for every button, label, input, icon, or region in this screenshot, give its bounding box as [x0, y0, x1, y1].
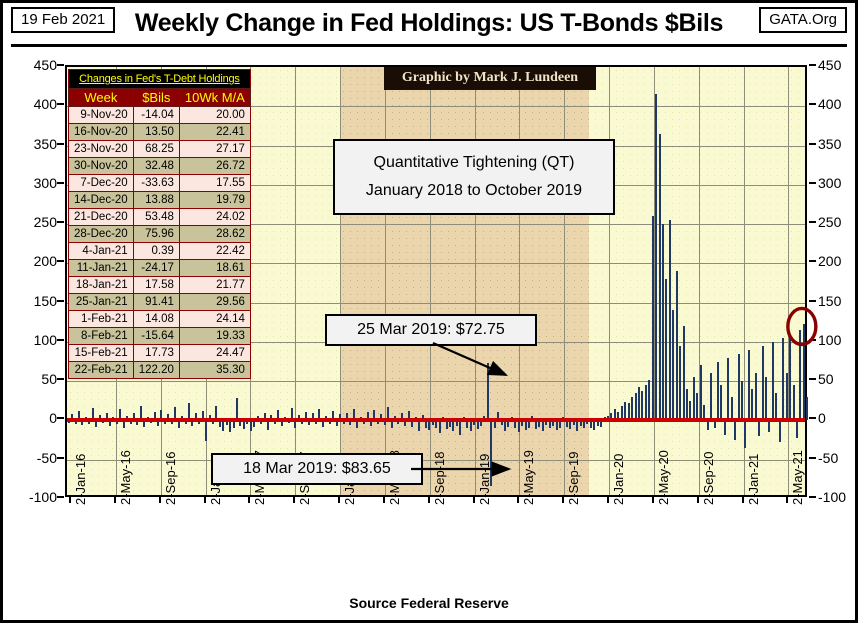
bar: [635, 393, 637, 420]
table-cell: 24.14: [179, 311, 250, 328]
table-cell: 53.48: [133, 209, 179, 226]
table-row: 7-Dec-20-33.6317.55: [69, 175, 251, 192]
qt-annotation: Quantitative Tightening (QT) January 201…: [333, 139, 615, 215]
page-title: Weekly Change in Fed Holdings: US T-Bond…: [3, 9, 855, 38]
bar: [696, 393, 698, 420]
y-tick-label: 50: [11, 372, 57, 386]
table-row: 4-Jan-210.3922.42: [69, 243, 251, 260]
bar: [803, 324, 805, 420]
y-tick-label: 250: [818, 215, 858, 229]
bar: [727, 358, 729, 421]
bar: [655, 94, 657, 420]
callout-peak-up: 25 Mar 2019: $72.75: [325, 314, 537, 346]
table-body: 9-Nov-20-14.0420.0016-Nov-2013.5022.4123…: [69, 107, 251, 379]
y-tick-label: 100: [818, 333, 858, 347]
table-row: 30-Nov-2032.4826.72: [69, 158, 251, 175]
y-tick-mark: [809, 182, 816, 184]
table-cell: 29.56: [179, 294, 250, 311]
y-tick-label: -50: [11, 451, 57, 465]
table-cell: -15.64: [133, 328, 179, 345]
bar: [717, 362, 719, 421]
chart-page: 19 Feb 2021 Weekly Change in Fed Holding…: [0, 0, 858, 623]
table-cell: 27.17: [179, 141, 250, 158]
x-tick-mark: [562, 497, 564, 503]
date-badge: 19 Feb 2021: [11, 7, 115, 33]
bar: [751, 389, 753, 420]
y-tick-mark: [809, 496, 816, 498]
bar: [772, 342, 774, 421]
y-tick-label: -50: [818, 451, 858, 465]
table-cell: 32.48: [133, 158, 179, 175]
bar: [720, 385, 722, 420]
bar: [638, 387, 640, 420]
table-cell: 26.72: [179, 158, 250, 175]
x-tick-mark: [697, 497, 699, 503]
table-cell: -14.04: [133, 107, 179, 124]
y-tick-label: 400: [11, 97, 57, 111]
y-tick-mark: [809, 457, 816, 459]
bar: [686, 389, 688, 420]
table-row: 22-Feb-21122.2035.30: [69, 362, 251, 379]
y-tick-label: 150: [818, 294, 858, 308]
bar: [744, 420, 746, 447]
y-tick-label: 150: [11, 294, 57, 308]
y-tick-mark: [57, 64, 64, 66]
table-row: 9-Nov-20-14.0420.00: [69, 107, 251, 124]
table-cell: 91.41: [133, 294, 179, 311]
bar: [806, 397, 808, 421]
table-cell: 15-Feb-21: [69, 345, 134, 362]
table-cell: -24.17: [133, 260, 179, 277]
bar: [672, 310, 674, 420]
source-label: Source Federal Reserve: [3, 595, 855, 611]
table-row: 11-Jan-21-24.1718.61: [69, 260, 251, 277]
y-tick-label: -100: [818, 490, 858, 504]
table-cell: 21.77: [179, 277, 250, 294]
x-tick-mark: [786, 497, 788, 503]
table-cell: 1-Feb-21: [69, 311, 134, 328]
bar: [741, 381, 743, 420]
y-tick-mark: [809, 417, 816, 419]
table-cell: 17.73: [133, 345, 179, 362]
table-row: 28-Dec-2075.9628.62: [69, 226, 251, 243]
bar: [679, 346, 681, 421]
table-cell: 68.25: [133, 141, 179, 158]
table-cell: 13.50: [133, 124, 179, 141]
bar: [205, 420, 207, 440]
bar: [779, 420, 781, 442]
bar: [236, 398, 238, 420]
x-tick-mark: [159, 497, 161, 503]
bar: [731, 397, 733, 421]
table-cell: 21-Dec-20: [69, 209, 134, 226]
title-divider: [11, 44, 847, 47]
table-cell: 0.39: [133, 243, 179, 260]
qt-annotation-line1: Quantitative Tightening (QT): [341, 149, 607, 177]
bar: [755, 373, 757, 420]
y-tick-mark: [57, 496, 64, 498]
table-caption: Changes in Fed's T-Debt Holdings: [69, 70, 251, 89]
bar: [734, 420, 736, 440]
table-cell: 7-Dec-20: [69, 175, 134, 192]
x-tick-mark: [517, 497, 519, 503]
y-tick-label: 300: [818, 176, 858, 190]
table-cell: 14-Dec-20: [69, 192, 134, 209]
table-cell: 22-Feb-21: [69, 362, 134, 379]
x-tick-mark: [607, 497, 609, 503]
bar: [793, 385, 795, 420]
y-tick-mark: [809, 64, 816, 66]
table-cell: 18-Jan-21: [69, 277, 134, 294]
y-tick-label: 350: [11, 137, 57, 151]
bar: [765, 377, 767, 420]
x-tick-mark: [652, 497, 654, 503]
y-tick-mark: [809, 378, 816, 380]
bar: [659, 134, 661, 421]
y-tick-mark: [57, 339, 64, 341]
table-cell: -33.63: [133, 175, 179, 192]
table-row: 8-Feb-21-15.6419.33: [69, 328, 251, 345]
table-col-0: Week: [69, 89, 134, 107]
table-header-row: Week$Bils10Wk M/A: [69, 89, 251, 107]
brand-badge: GATA.Org: [759, 7, 847, 33]
table-cell: 28.62: [179, 226, 250, 243]
table-cell: 19.33: [179, 328, 250, 345]
y-tick-label: 250: [11, 215, 57, 229]
graphic-credit: Graphic by Mark J. Lundeen: [384, 67, 596, 90]
table-row: 25-Jan-2191.4129.56: [69, 294, 251, 311]
bar: [676, 271, 678, 420]
y-tick-label: 200: [818, 254, 858, 268]
bar: [662, 224, 664, 420]
y-tick-mark: [809, 260, 816, 262]
table-cell: 75.96: [133, 226, 179, 243]
bar: [748, 350, 750, 421]
bar: [782, 338, 784, 420]
table-cell: 23-Nov-20: [69, 141, 134, 158]
table-cell: 8-Feb-21: [69, 328, 134, 345]
bar: [648, 380, 650, 421]
bar: [700, 365, 702, 420]
table-cell: 122.20: [133, 362, 179, 379]
table-cell: 14.08: [133, 311, 179, 328]
table-cell: 24.47: [179, 345, 250, 362]
y-tick-label: 50: [818, 372, 858, 386]
table-cell: 11-Jan-21: [69, 260, 134, 277]
bar: [758, 420, 760, 436]
x-tick-mark: [428, 497, 430, 503]
x-tick-mark: [248, 497, 250, 503]
bar: [710, 373, 712, 420]
y-tick-mark: [809, 221, 816, 223]
table-col-2: 10Wk M/A: [179, 89, 250, 107]
x-tick-mark: [114, 497, 116, 503]
y-tick-mark: [57, 221, 64, 223]
table-cell: 17.55: [179, 175, 250, 192]
bar: [631, 397, 633, 421]
y-tick-mark: [809, 143, 816, 145]
table-row: 18-Jan-2117.5821.77: [69, 277, 251, 294]
y-tick-mark: [57, 300, 64, 302]
y-tick-mark: [809, 103, 816, 105]
y-tick-label: 400: [818, 97, 858, 111]
table-cell: 30-Nov-20: [69, 158, 134, 175]
table-cell: 24.02: [179, 209, 250, 226]
x-tick-mark: [204, 497, 206, 503]
bar: [762, 346, 764, 421]
table-row: 23-Nov-2068.2527.17: [69, 141, 251, 158]
table-cell: 22.41: [179, 124, 250, 141]
bar: [786, 373, 788, 420]
table-cell: 16-Nov-20: [69, 124, 134, 141]
bar: [665, 279, 667, 420]
table-row: 16-Nov-2013.5022.41: [69, 124, 251, 141]
y-tick-mark: [809, 339, 816, 341]
table-row: 14-Dec-2013.8819.79: [69, 192, 251, 209]
y-tick-mark: [809, 300, 816, 302]
y-tick-mark: [57, 457, 64, 459]
bar: [789, 334, 791, 420]
x-tick-mark: [69, 497, 71, 503]
bar: [799, 330, 801, 420]
bar: [645, 385, 647, 420]
y-tick-mark: [57, 378, 64, 380]
bar: [490, 420, 492, 486]
bar: [459, 420, 461, 434]
table-cell: 19.79: [179, 192, 250, 209]
x-tick-mark: [383, 497, 385, 503]
table-cell: 17.58: [133, 277, 179, 294]
qt-annotation-line2: January 2018 to October 2019: [341, 177, 607, 205]
table-cell: 22.42: [179, 243, 250, 260]
table-row: 1-Feb-2114.0824.14: [69, 311, 251, 328]
y-tick-mark: [57, 417, 64, 419]
table-row: 21-Dec-2053.4824.02: [69, 209, 251, 226]
y-tick-label: 0: [11, 411, 57, 425]
y-tick-label: 300: [11, 176, 57, 190]
x-tick-mark: [338, 497, 340, 503]
table-cell: 9-Nov-20: [69, 107, 134, 124]
table-cell: 25-Jan-21: [69, 294, 134, 311]
bar: [796, 420, 798, 437]
table-cell: 4-Jan-21: [69, 243, 134, 260]
y-tick-mark: [57, 182, 64, 184]
y-tick-label: 450: [11, 58, 57, 72]
bar: [738, 354, 740, 421]
bar: [669, 220, 671, 420]
table-cell: 35.30: [179, 362, 250, 379]
callout-peak-down: 18 Mar 2019: $83.65: [211, 453, 423, 485]
y-tick-mark: [57, 103, 64, 105]
bar: [683, 326, 685, 420]
y-tick-label: 0: [818, 411, 858, 425]
y-tick-mark: [57, 143, 64, 145]
y-tick-label: 100: [11, 333, 57, 347]
bar: [641, 391, 643, 421]
table-cell: 20.00: [179, 107, 250, 124]
table-cell: 18.61: [179, 260, 250, 277]
table-row: 15-Feb-2117.7324.47: [69, 345, 251, 362]
y-tick-label: -100: [11, 490, 57, 504]
bar: [775, 393, 777, 420]
zero-line: [67, 418, 805, 422]
bar: [652, 216, 654, 420]
y-tick-label: 450: [818, 58, 858, 72]
table-cell: 28-Dec-20: [69, 226, 134, 243]
y-tick-label: 200: [11, 254, 57, 268]
y-tick-mark: [57, 260, 64, 262]
x-tick-mark: [473, 497, 475, 503]
bar: [724, 420, 726, 434]
fed-holdings-table: Changes in Fed's T-Debt Holdings Week$Bi…: [68, 69, 251, 379]
table-col-1: $Bils: [133, 89, 179, 107]
table-cell: 13.88: [133, 192, 179, 209]
x-tick-mark: [742, 497, 744, 503]
bar: [693, 377, 695, 420]
bar: [487, 363, 489, 420]
y-tick-label: 350: [818, 137, 858, 151]
x-tick-mark: [293, 497, 295, 503]
